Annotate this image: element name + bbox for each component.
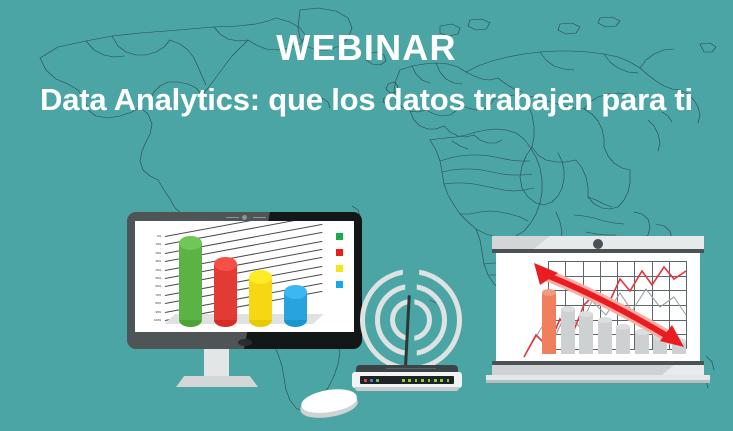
chart-tick-label: 60% bbox=[139, 284, 161, 288]
bar-body bbox=[214, 264, 237, 320]
monitor-power-indicator bbox=[238, 339, 252, 346]
monitor-base bbox=[176, 376, 258, 387]
chart-tick-label: 40% bbox=[139, 268, 161, 272]
chart-tick-label: 10% bbox=[139, 242, 161, 246]
chart-bar-2 bbox=[214, 257, 237, 320]
monitor-stand bbox=[204, 349, 229, 380]
chart-tick-label: 70% bbox=[139, 293, 161, 297]
chart-tick-label: 100% bbox=[139, 318, 161, 322]
webinar-banner: WEBINAR Data Analytics: que los datos tr… bbox=[0, 0, 733, 431]
monitor-bar-chart: 100%90%80%70%60%50%40%30%20%10%0% bbox=[135, 221, 354, 332]
wifi-router bbox=[352, 365, 462, 393]
chart-tick-label: 90% bbox=[139, 310, 161, 314]
projector-roller-shade bbox=[492, 236, 550, 249]
power-led bbox=[364, 379, 367, 382]
lan-led-7 bbox=[440, 379, 443, 382]
chart-legend-swatch-1 bbox=[336, 233, 343, 240]
chart-legend-swatch-4 bbox=[336, 281, 343, 288]
declining-trend-arrow bbox=[496, 253, 700, 361]
webcam-icon bbox=[242, 215, 247, 220]
lan-led-4 bbox=[421, 379, 424, 382]
projector-decline-chart bbox=[496, 253, 700, 361]
projector-screen bbox=[492, 236, 704, 387]
chart-bar-3 bbox=[249, 270, 272, 320]
chart-tick-label: 30% bbox=[139, 259, 161, 263]
router-base bbox=[355, 387, 459, 391]
projector-knob bbox=[593, 239, 603, 249]
page-title: Data Analytics: que los datos trabajen p… bbox=[0, 80, 733, 120]
chart-bar-4 bbox=[284, 285, 307, 320]
chart-legend-swatch-3 bbox=[336, 265, 343, 272]
bar-top-cap bbox=[249, 270, 272, 284]
chart-tick-label: 50% bbox=[139, 276, 161, 280]
monitor-speaker-line-left bbox=[226, 217, 239, 218]
mouse-body bbox=[300, 386, 359, 416]
projector-canvas bbox=[496, 253, 700, 361]
router-top-highlight bbox=[386, 368, 436, 369]
monitor-speaker-line-right bbox=[253, 217, 266, 218]
chart-legend-swatch-2 bbox=[336, 249, 343, 256]
chart-tick-label: 80% bbox=[139, 301, 161, 305]
bar-top-cap bbox=[284, 285, 307, 299]
bar-top-cap bbox=[214, 257, 237, 271]
lan-led-5 bbox=[428, 379, 431, 382]
monitor-screen: 100%90%80%70%60%50%40%30%20%10%0% bbox=[135, 221, 354, 332]
eyebrow-webinar: WEBINAR bbox=[0, 28, 733, 68]
wan-led bbox=[370, 379, 373, 382]
lan-led-1 bbox=[402, 379, 405, 382]
lan-led-6 bbox=[434, 379, 437, 382]
lan-led-3 bbox=[415, 379, 418, 382]
lan-led-2 bbox=[408, 379, 411, 382]
wifi-signal-icon bbox=[382, 275, 442, 355]
chart-tick-label: 0% bbox=[139, 234, 161, 238]
projector-stand-shadow bbox=[486, 380, 710, 383]
chart-bar-1 bbox=[179, 236, 202, 320]
wlan-led bbox=[376, 379, 379, 382]
desktop-monitor: 100%90%80%70%60%50%40%30%20%10%0% bbox=[127, 212, 362, 349]
chart-tick-label: 20% bbox=[139, 251, 161, 255]
bar-top-cap bbox=[179, 236, 202, 250]
lan-led-8 bbox=[447, 379, 450, 382]
bar-body bbox=[179, 243, 202, 320]
computer-mouse bbox=[300, 388, 358, 418]
